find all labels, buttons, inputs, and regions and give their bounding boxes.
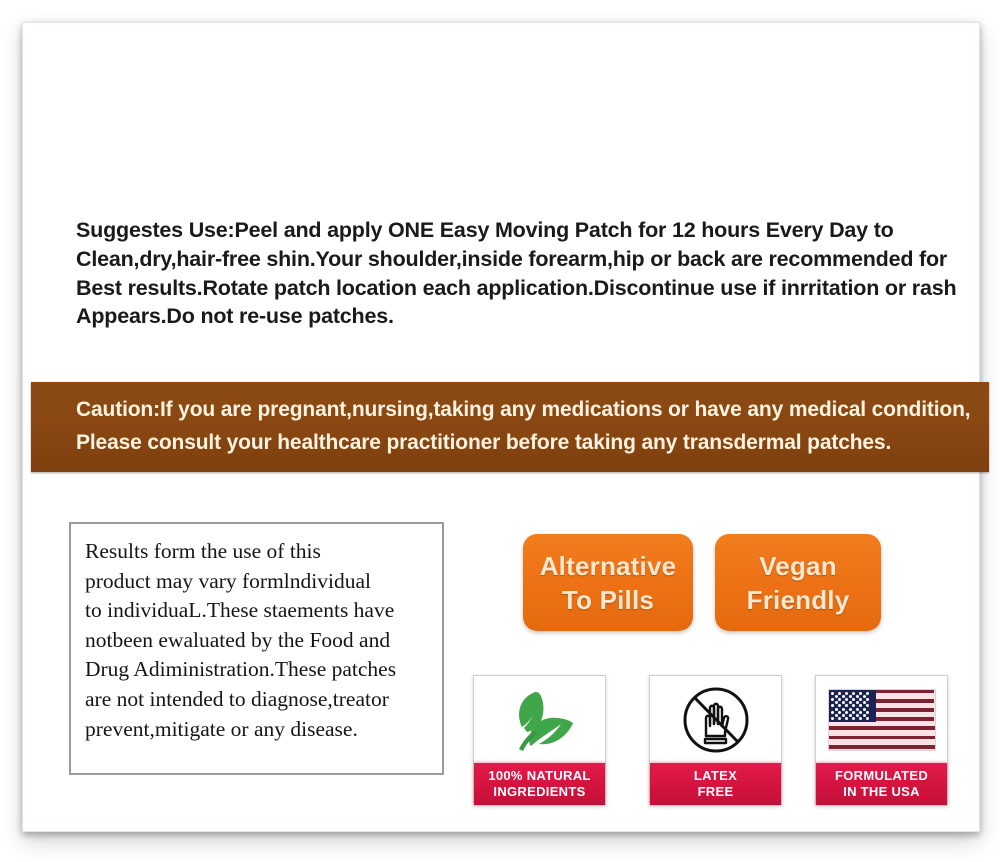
- flag-stripe: [829, 726, 935, 730]
- flag-star: [842, 708, 845, 711]
- badge-banner-line: LATEX: [694, 768, 737, 784]
- badge-line: Friendly: [747, 583, 850, 617]
- badge-artwork: [650, 676, 781, 763]
- caution-line: Caution:If you are pregnant,nursing,taki…: [76, 393, 975, 426]
- disclaimer-line: product may vary formlndividual: [85, 567, 434, 597]
- badge-banner-line: FORMULATED: [835, 768, 928, 784]
- usage-line: Best results.Rotate patch location each …: [76, 274, 956, 303]
- flag-stripe: [876, 690, 934, 694]
- certification-badge-natural: 100% NATURAL INGREDIENTS: [473, 675, 606, 806]
- flag-stripe: [876, 708, 934, 712]
- leaf-icon: [503, 687, 577, 753]
- badge-artwork: [474, 676, 605, 763]
- flag-stripe: [876, 699, 934, 703]
- label-card-inner: Suggestes Use:Peel and apply ONE Easy Mo…: [31, 31, 971, 823]
- usage-line: Appears.Do not re-use patches.: [76, 302, 956, 331]
- label-card: Suggestes Use:Peel and apply ONE Easy Mo…: [22, 22, 980, 832]
- disclaimer-text: Results form the use of this product may…: [85, 537, 434, 744]
- flag-stripe: [829, 745, 935, 749]
- disclaimer-line: are not intended to diagnose,treator: [85, 685, 434, 715]
- badge-banner-line: FREE: [698, 784, 734, 800]
- badge-vegan-friendly: Vegan Friendly: [715, 534, 881, 631]
- disclaimer-line: prevent,mitigate or any disease.: [85, 715, 434, 745]
- badge-banner-line: IN THE USA: [843, 784, 920, 800]
- us-flag-icon: [828, 689, 936, 751]
- disclaimer-line: notbeen ewaluated by the Food and: [85, 626, 434, 656]
- flag-star: [849, 708, 852, 711]
- usage-line: Clean,dry,hair-free shin.Your shoulder,i…: [76, 245, 956, 274]
- badge-line: To Pills: [562, 583, 654, 617]
- flag-star: [856, 708, 859, 711]
- caution-text: Caution:If you are pregnant,nursing,taki…: [76, 393, 975, 459]
- badge-artwork: [816, 676, 947, 763]
- usage-line: Suggestes Use:Peel and apply ONE Easy Mo…: [76, 216, 956, 245]
- badge-banner: FORMULATED IN THE USA: [816, 763, 947, 805]
- disclaimer-box: Results form the use of this product may…: [69, 522, 444, 775]
- usage-instructions: Suggestes Use:Peel and apply ONE Easy Mo…: [76, 216, 956, 331]
- certification-badge-latex-free: LATEX FREE: [649, 675, 782, 806]
- badge-line: Alternative: [540, 549, 677, 583]
- flag-stripe: [829, 736, 935, 740]
- disclaimer-line: to individuaL.These staements have: [85, 596, 434, 626]
- caution-banner: Caution:If you are pregnant,nursing,taki…: [31, 382, 989, 472]
- flag-stripe: [876, 717, 934, 721]
- certification-badge-usa: FORMULATED IN THE USA: [815, 675, 948, 806]
- flag-star: [835, 708, 838, 711]
- disclaimer-line: Results form the use of this: [85, 537, 434, 567]
- badge-banner-line: INGREDIENTS: [493, 784, 585, 800]
- badge-alternative-to-pills: Alternative To Pills: [523, 534, 693, 631]
- flag-star: [863, 708, 866, 711]
- lower-section: Results form the use of this product may…: [31, 472, 973, 825]
- badge-banner-line: 100% NATURAL: [488, 768, 590, 784]
- disclaimer-line: Drug Adiministration.These patches: [85, 655, 434, 685]
- no-glove-icon: [678, 682, 754, 758]
- badge-banner: LATEX FREE: [650, 763, 781, 805]
- badge-line: Vegan: [759, 549, 837, 583]
- caution-line: Please consult your healthcare practitio…: [76, 426, 975, 459]
- product-label-image: Suggestes Use:Peel and apply ONE Easy Mo…: [0, 0, 1000, 862]
- badge-banner: 100% NATURAL INGREDIENTS: [474, 763, 605, 805]
